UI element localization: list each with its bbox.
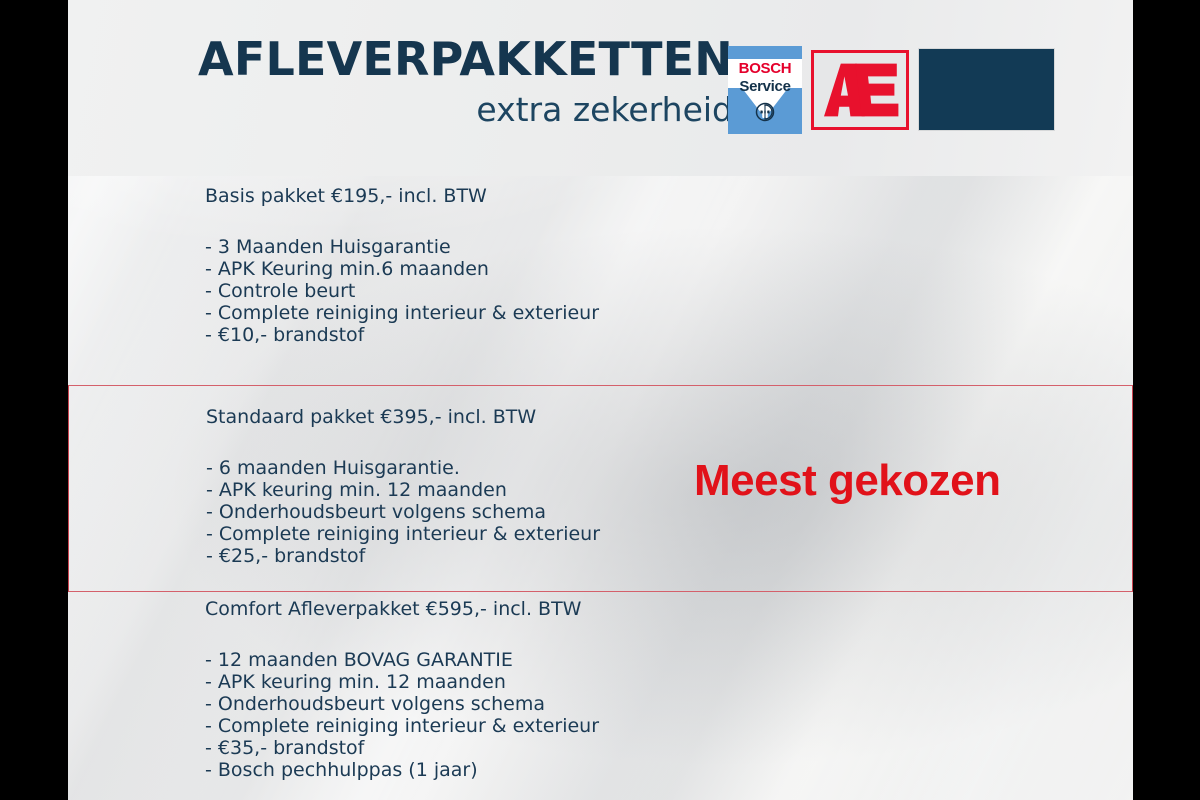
- bosch-service-logo: BOSCH Service: [728, 46, 802, 134]
- list-item: - APK Keuring min.6 maanden: [205, 258, 765, 280]
- list-item: - 3 Maanden Huisgarantie: [205, 236, 765, 258]
- slide-canvas: AFLEVERPAKKETTEN extra zekerheid BOSCH S…: [0, 0, 1200, 800]
- package-feature-list: - 6 maanden Huisgarantie. - APK keuring …: [206, 457, 766, 567]
- list-item: - €25,- brandstof: [206, 545, 766, 567]
- package-card-standaard[interactable]: Standaard pakket €395,- incl. BTW - 6 ma…: [68, 385, 1133, 592]
- package-card-basis[interactable]: Basis pakket €195,- incl. BTW - 3 Maande…: [68, 176, 1133, 385]
- package-content: Comfort Afleverpakket €595,- incl. BTW -…: [205, 600, 765, 781]
- list-item: - Complete reiniging interieur & exterie…: [205, 715, 765, 737]
- list-item: - Complete reiniging interieur & exterie…: [205, 302, 765, 324]
- package-feature-list: - 3 Maanden Huisgarantie - APK Keuring m…: [205, 236, 765, 346]
- status-badge: Meest gekozen: [694, 459, 1000, 503]
- letterbox-right: [1133, 0, 1200, 800]
- package-content: Standaard pakket €395,- incl. BTW - 6 ma…: [206, 408, 766, 567]
- package-title: Standaard pakket €395,- incl. BTW: [206, 408, 766, 427]
- page-subtitle: extra zekerheid: [173, 93, 733, 126]
- list-item: - Complete reiniging interieur & exterie…: [206, 523, 766, 545]
- list-item: - 12 maanden BOVAG GARANTIE: [205, 649, 765, 671]
- package-card-comfort[interactable]: Comfort Afleverpakket €595,- incl. BTW -…: [68, 592, 1133, 800]
- list-item: - 6 maanden Huisgarantie.: [206, 457, 766, 479]
- ae-logo: [811, 50, 909, 130]
- list-item: - APK keuring min. 12 maanden: [205, 671, 765, 693]
- bosch-service-wordmark: Service: [728, 79, 802, 94]
- logo-row: BOSCH Service: [728, 46, 1055, 134]
- list-item: - APK keuring min. 12 maanden: [206, 479, 766, 501]
- list-item: - Controle beurt: [205, 280, 765, 302]
- page-title: AFLEVERPAKKETTEN: [173, 36, 733, 82]
- package-content: Basis pakket €195,- incl. BTW - 3 Maande…: [205, 187, 765, 346]
- slide-content: AFLEVERPAKKETTEN extra zekerheid BOSCH S…: [68, 0, 1133, 800]
- list-item: - €35,- brandstof: [205, 737, 765, 759]
- package-title: Basis pakket €195,- incl. BTW: [205, 187, 765, 206]
- list-item: - Onderhoudsbeurt volgens schema: [205, 693, 765, 715]
- navy-plate-logo: [918, 48, 1055, 131]
- bosch-armature-icon: [755, 102, 775, 122]
- list-item: - €10,- brandstof: [205, 324, 765, 346]
- letterbox-left: [0, 0, 68, 800]
- package-title: Comfort Afleverpakket €595,- incl. BTW: [205, 600, 765, 619]
- list-item: - Bosch pechhulppas (1 jaar): [205, 759, 765, 781]
- slide-header: AFLEVERPAKKETTEN extra zekerheid BOSCH S…: [68, 0, 1133, 176]
- bosch-wordmark: BOSCH: [728, 61, 802, 76]
- packages-area: Basis pakket €195,- incl. BTW - 3 Maande…: [68, 176, 1133, 800]
- package-feature-list: - 12 maanden BOVAG GARANTIE - APK keurin…: [205, 649, 765, 781]
- bosch-logo-top-band: [728, 46, 802, 59]
- title-block: AFLEVERPAKKETTEN extra zekerheid: [173, 36, 733, 126]
- ae-monogram-icon: [820, 62, 900, 118]
- list-item: - Onderhoudsbeurt volgens schema: [206, 501, 766, 523]
